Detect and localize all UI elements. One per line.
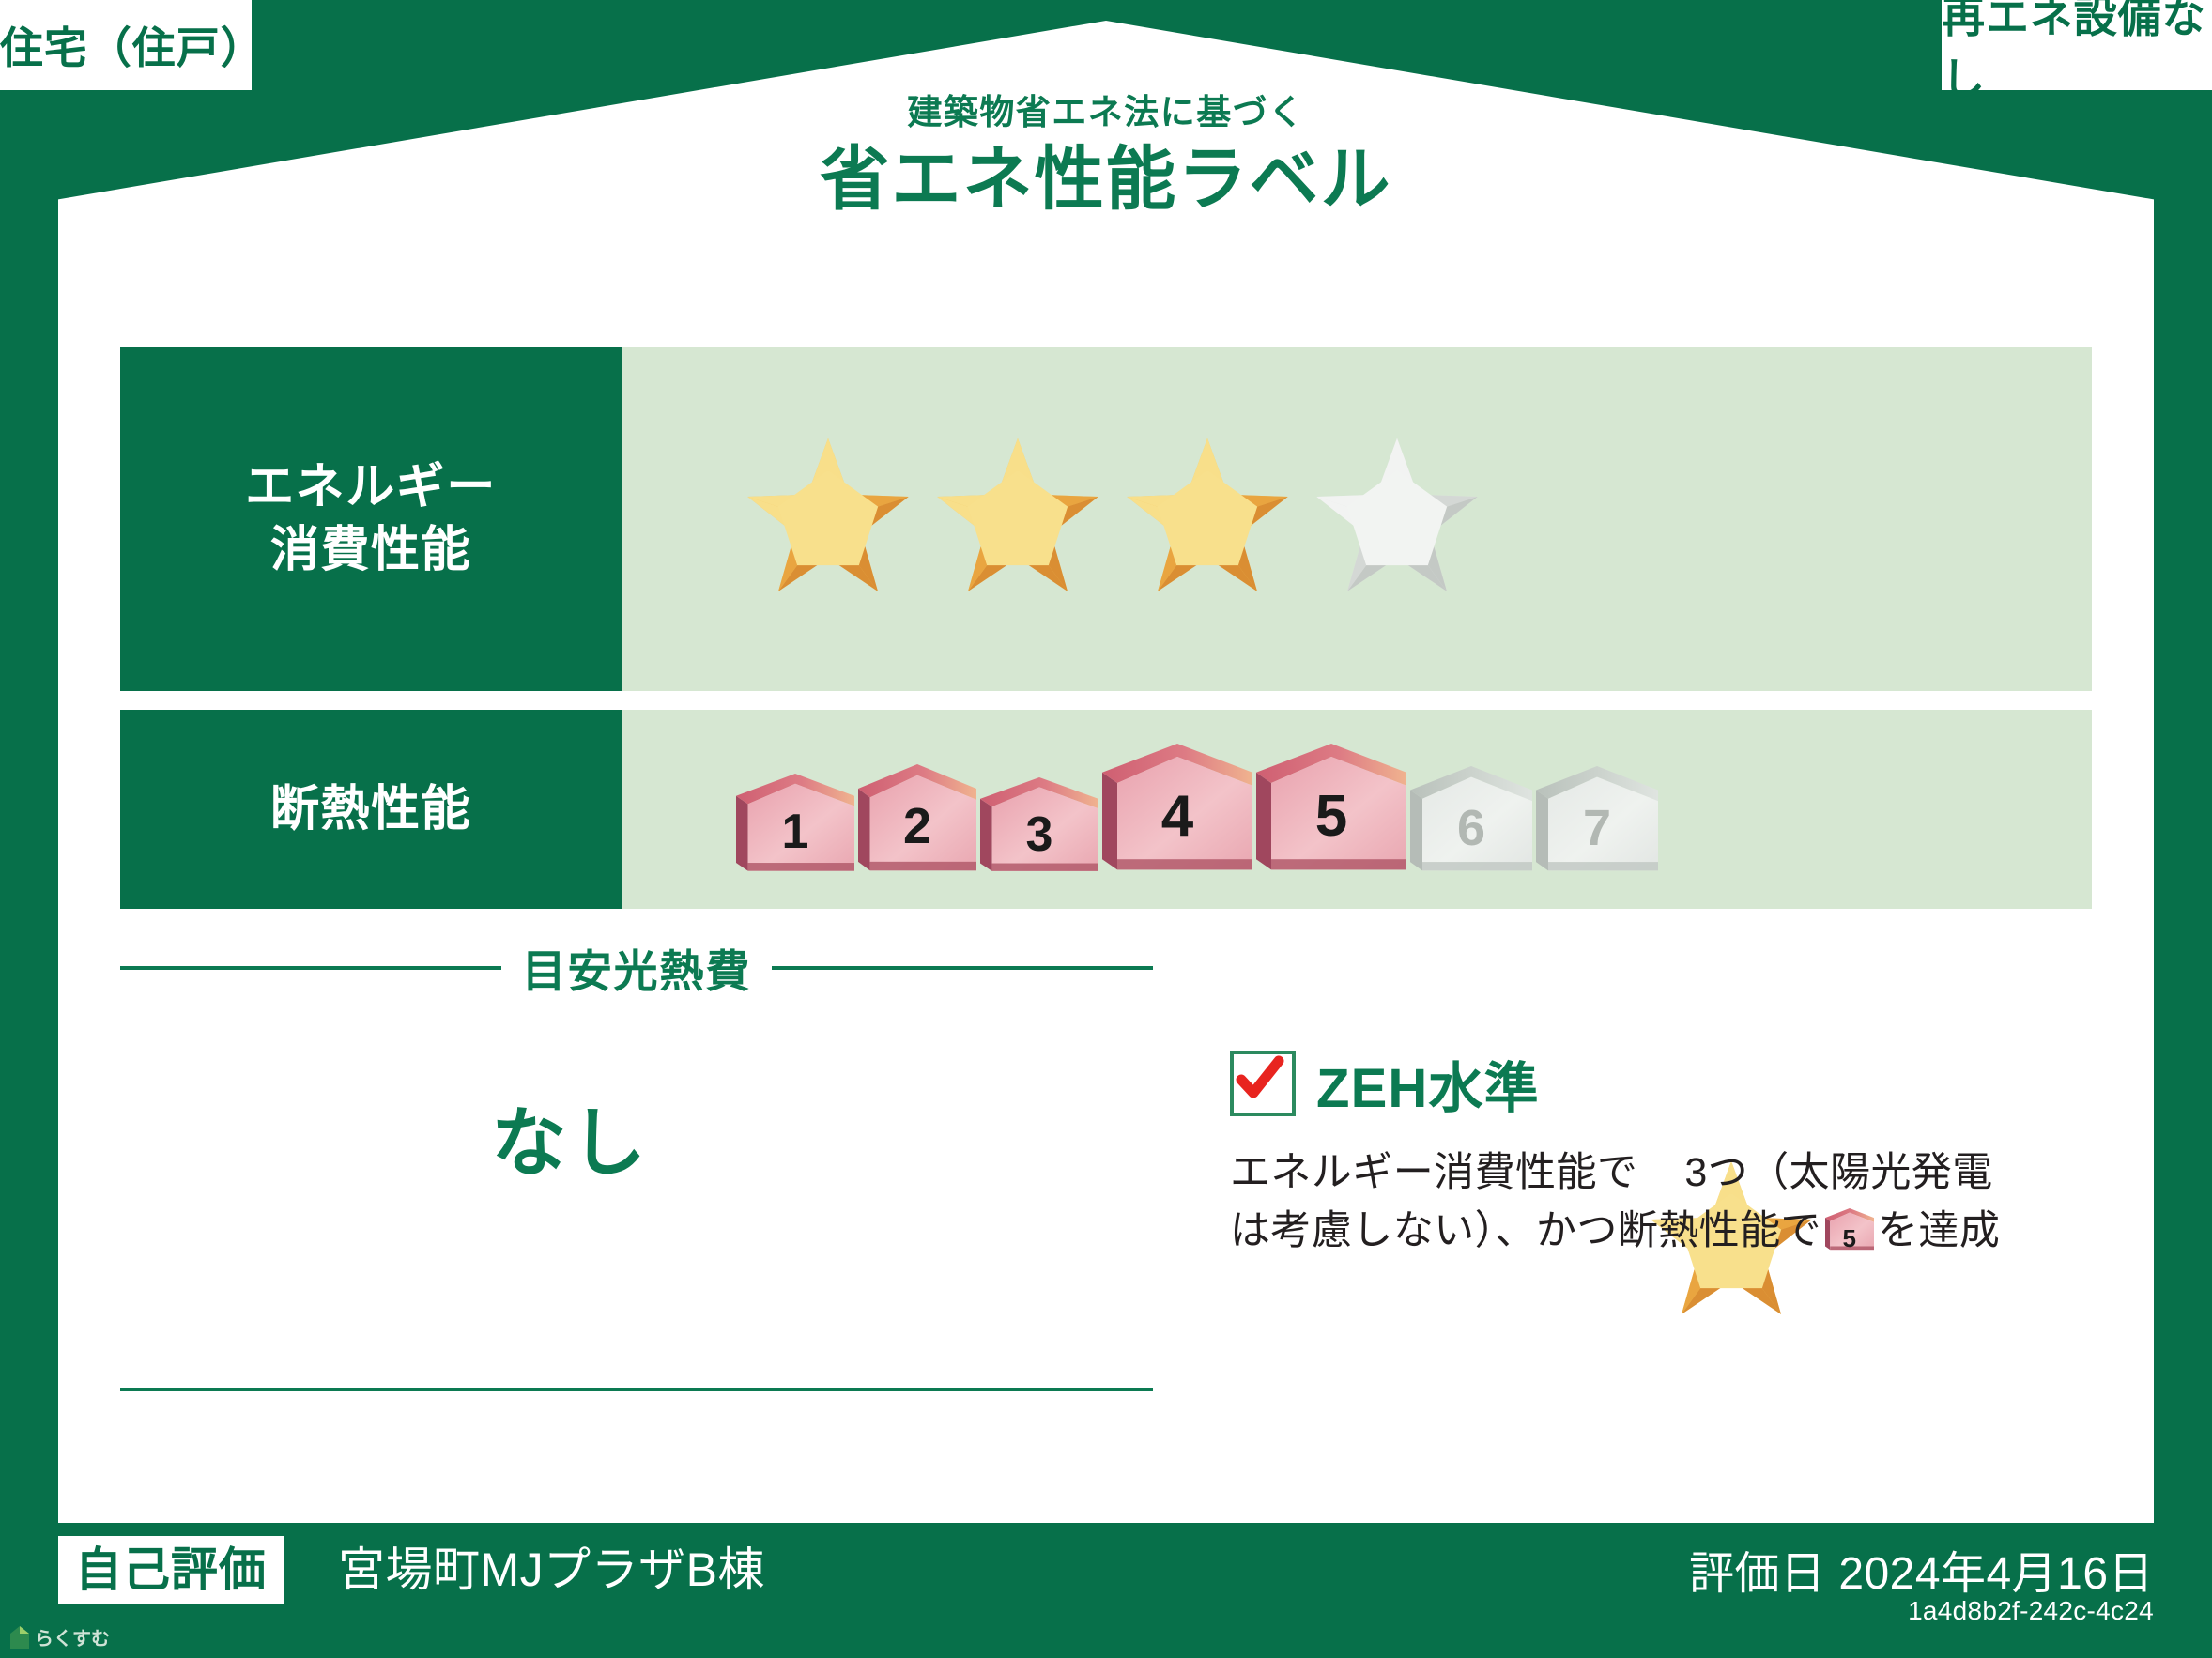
house-icon-active	[1256, 744, 1406, 875]
label-title-block: 建築物省エネ法に基づく 省エネ性能ラベル	[0, 94, 2212, 221]
row-label-energy-line2: 消費性能	[270, 519, 471, 582]
utility-cost-section: 目安光熱費 なし	[120, 935, 1153, 1191]
check-icon	[1230, 1051, 1288, 1109]
zeh-desc-part2: は考慮しない）、かつ断熱性能で	[1230, 1208, 1821, 1253]
heading-rule-left	[120, 966, 501, 970]
star-empty-icon	[1305, 427, 1489, 611]
insulation-grade-badge: 3	[980, 777, 1098, 875]
row-label-energy-line1: エネルギー	[245, 456, 497, 519]
house-icon-inactive	[1410, 766, 1532, 875]
label-subtitle: 建築物省エネ法に基づく	[0, 94, 2212, 132]
house-icon-active	[1102, 744, 1252, 875]
zeh-standard-block: ZEH水準 エネルギー消費性能で3つ（太陽光発電 は考慮しない）、かつ断熱性能で…	[1230, 1044, 2131, 1261]
label-footer: 自己評価 宮場町MJプラザB棟 評価日 2024年4月16日 1a4d8b2f-…	[0, 1523, 2212, 1658]
house-icon-active	[736, 774, 854, 875]
page-title: 省エネ性能ラベル	[0, 138, 2212, 222]
utility-cost-bottom-rule	[120, 1388, 1153, 1391]
building-name: 宮場町MJプラザB棟	[338, 1540, 765, 1601]
insulation-grade-badge: 2	[858, 764, 976, 875]
heading-rule-right	[772, 966, 1153, 970]
row-energy-performance: エネルギー 消費性能	[120, 347, 2092, 691]
star-filled-icon	[1115, 427, 1299, 611]
row-label-energy: エネルギー 消費性能	[120, 347, 622, 691]
insulation-grade-badge: 6	[1410, 766, 1532, 875]
insulation-grade-badge: 4	[1102, 744, 1252, 875]
evaluation-date: 評価日 2024年4月16日	[1689, 1536, 2154, 1602]
utility-cost-heading-text: 目安光熱費	[522, 935, 751, 1000]
insulation-grade-badge: 5	[1256, 744, 1406, 875]
zeh-standard-header: ZEH水準	[1230, 1044, 2131, 1123]
house-icon-active	[1825, 1208, 1874, 1251]
row-value-energy	[622, 347, 2092, 691]
evaluation-type-badge: 自己評価	[58, 1536, 284, 1604]
star-filled-icon	[736, 427, 920, 611]
zeh-desc-part3: を達成	[1878, 1208, 2000, 1253]
house-icon-inactive	[1536, 766, 1658, 875]
utility-cost-value: なし	[120, 1082, 1153, 1191]
utility-cost-heading: 目安光熱費	[120, 935, 1153, 1000]
row-label-insulation-line1: 断熱性能	[270, 778, 471, 841]
zeh-desc-part1: エネルギー消費性能で	[1230, 1150, 1637, 1195]
evaluation-id: 1a4d8b2f-242c-4c24	[1908, 1596, 2154, 1626]
house-icon-active	[858, 764, 976, 875]
zeh-standard-description: エネルギー消費性能で3つ（太陽光発電 は考慮しない）、かつ断熱性能で5を達成	[1230, 1144, 2131, 1261]
insulation-grade-badge: 5	[1825, 1208, 1874, 1251]
house-logo-icon	[9, 1625, 30, 1650]
badge-building-type: 住宅（住戸）	[0, 0, 252, 90]
row-value-insulation: 1234567	[622, 710, 2092, 909]
row-label-insulation: 断熱性能	[120, 710, 622, 909]
row-insulation-performance: 断熱性能 1234567	[120, 710, 2092, 909]
badge-renewable-equipment: 再エネ設備なし	[1942, 0, 2212, 90]
insulation-grade-scale: 1234567	[736, 744, 1662, 875]
zeh-desc-star-count: 3つ（太陽光発電	[1684, 1150, 1992, 1195]
star-rating	[736, 427, 1489, 611]
app-logo: らくすむ	[9, 1623, 110, 1650]
star-filled-icon	[926, 427, 1110, 611]
star-icon	[1639, 1150, 1682, 1193]
energy-label-root: 住宅（住戸） 再エネ設備なし 建築物省エネ法に基づく 省エネ性能ラベル エネルギ…	[0, 0, 2212, 1658]
house-grade-icon: 5	[1825, 1208, 1874, 1251]
zeh-standard-label: ZEH水準	[1316, 1044, 1540, 1123]
zeh-checkbox[interactable]	[1230, 1051, 1296, 1116]
app-logo-text: らくすむ	[35, 1623, 110, 1650]
house-icon-active	[980, 777, 1098, 875]
insulation-grade-badge: 7	[1536, 766, 1658, 875]
insulation-grade-badge: 1	[736, 774, 854, 875]
